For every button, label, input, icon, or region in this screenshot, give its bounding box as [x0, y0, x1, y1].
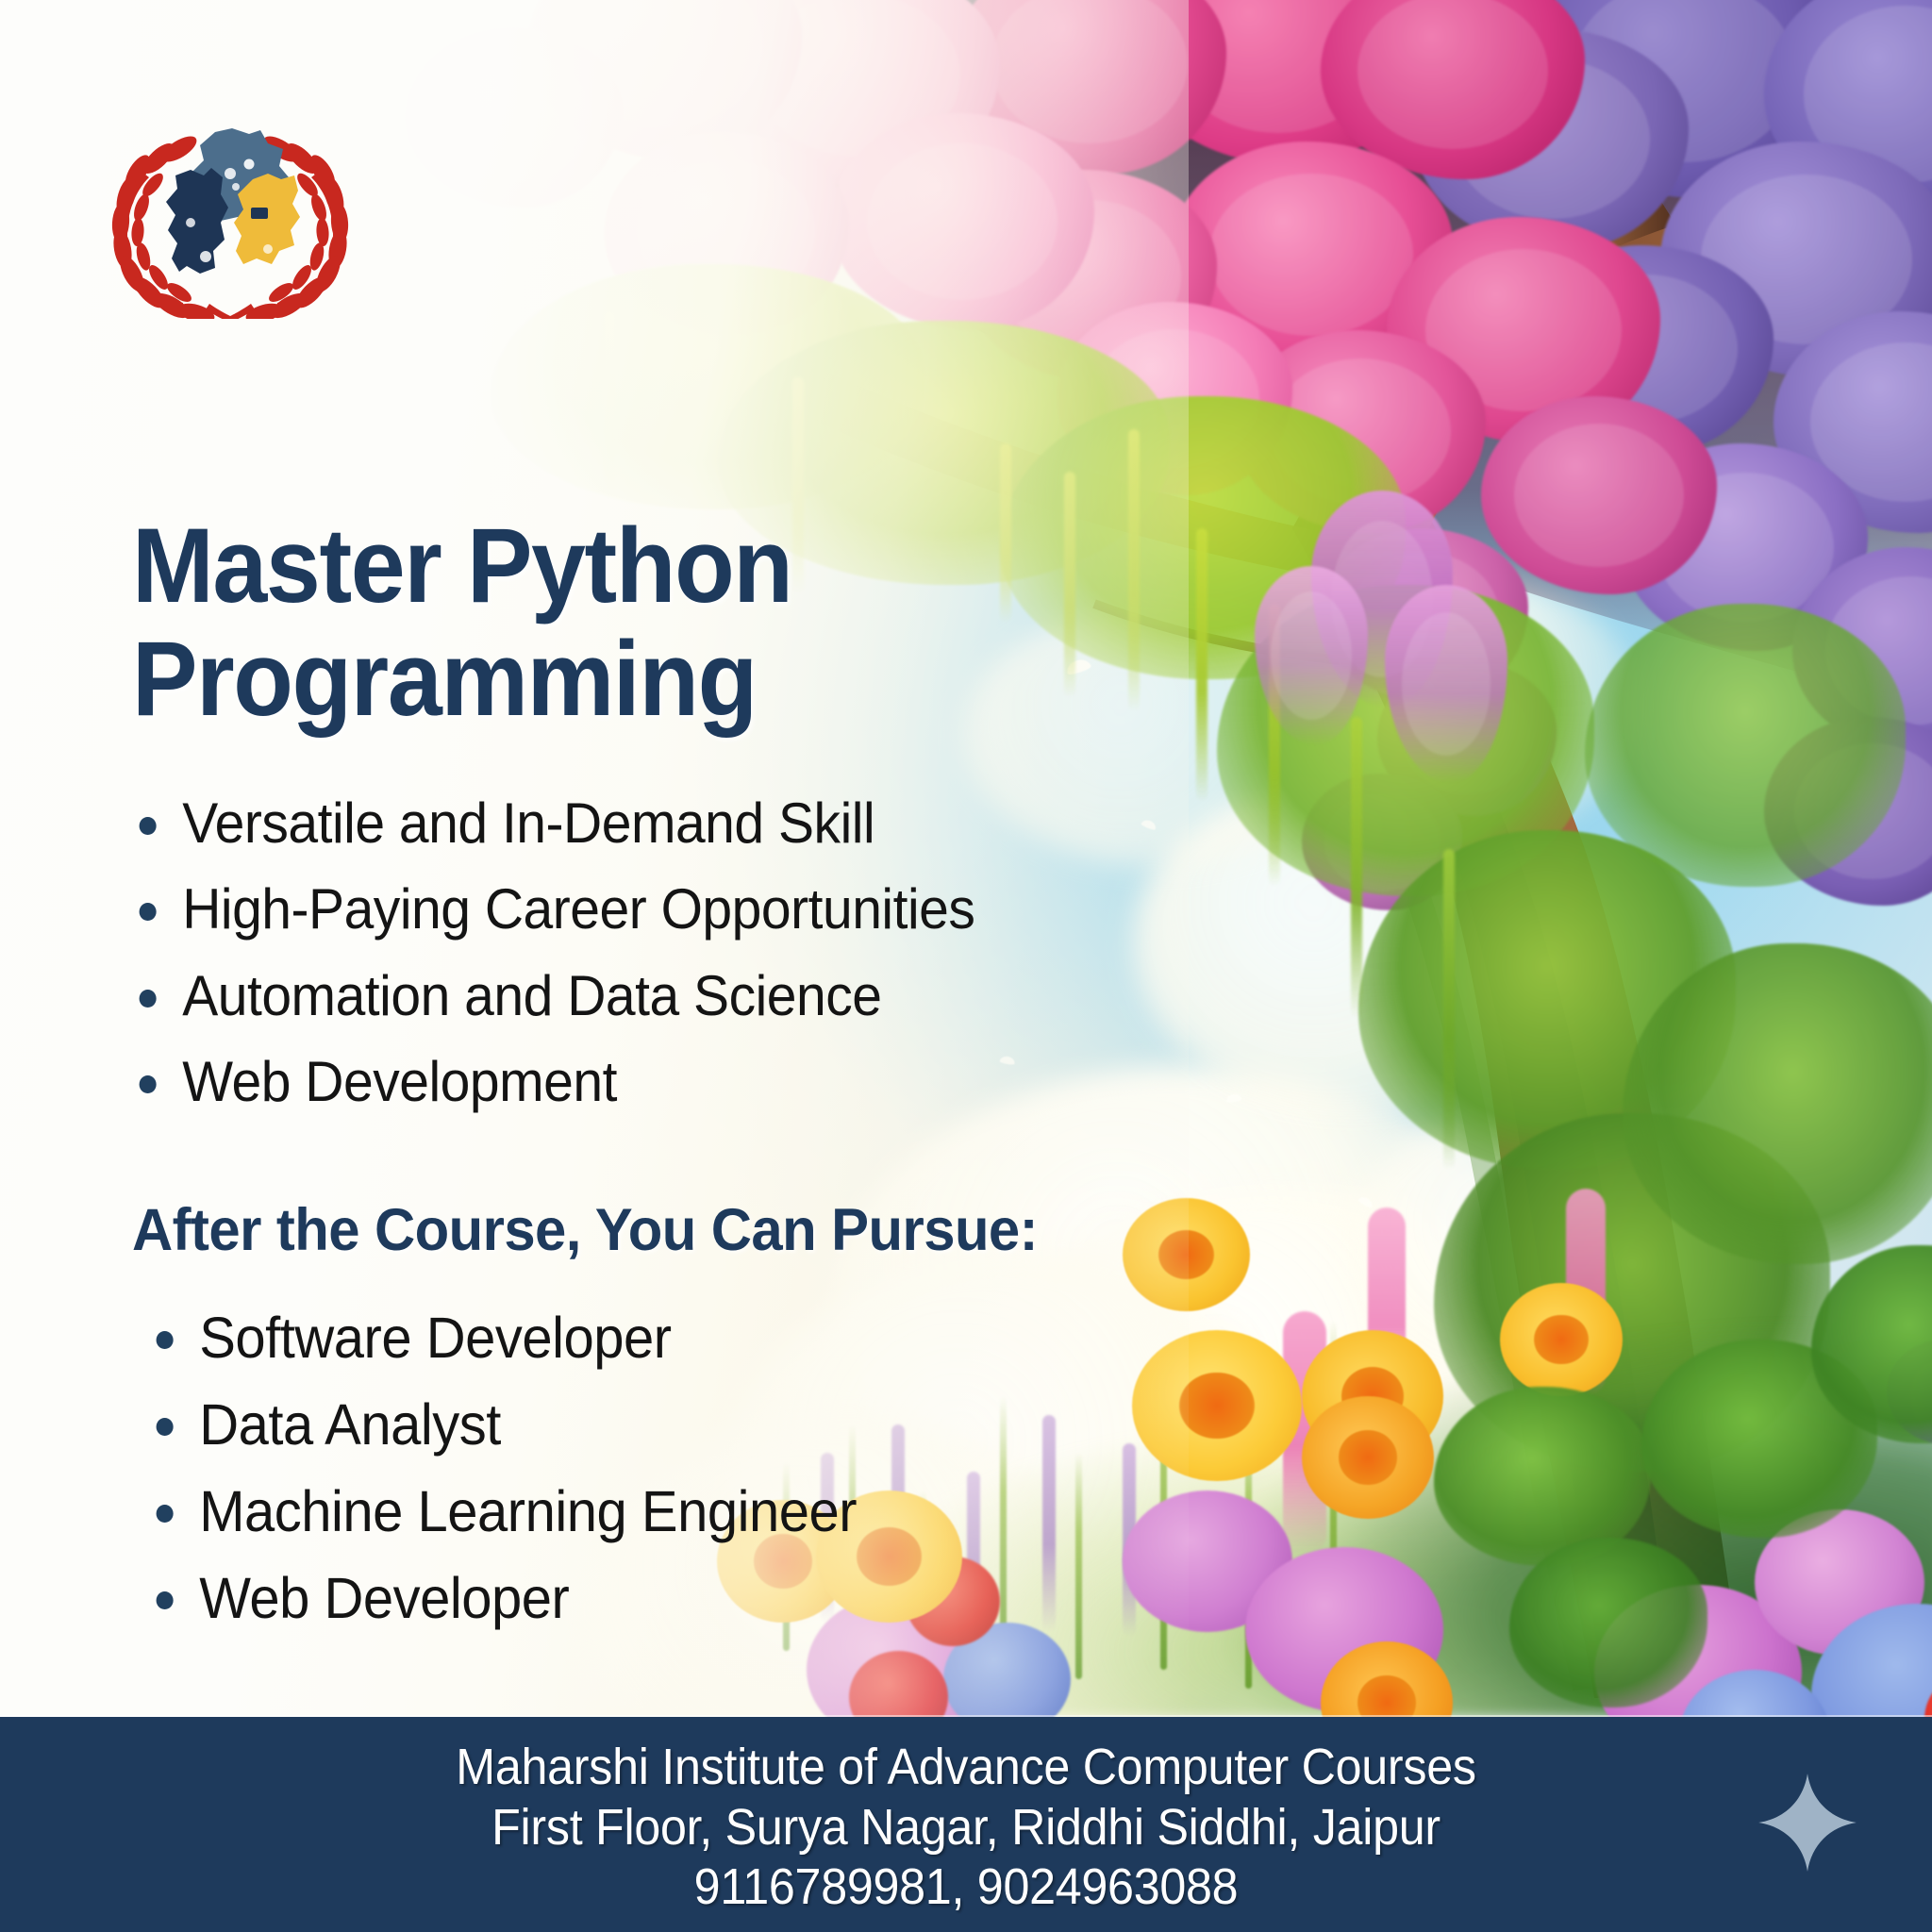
feature-label: Web Development [182, 1050, 617, 1113]
blossom-cluster [830, 113, 1094, 330]
hanging-strand [1269, 604, 1280, 887]
feature-label: Versatile and In-Demand Skill [182, 791, 874, 855]
cloud [1340, 1104, 1736, 1415]
blossom-cluster [1321, 528, 1528, 703]
section-heading: After the Course, You Can Pursue: [132, 1198, 1127, 1263]
pink-spire [1283, 1311, 1326, 1557]
feature-list: Versatile and In-Demand Skill High-Payin… [132, 791, 1179, 1115]
contact-footer: Maharshi Institute of Advance Computer C… [0, 1717, 1932, 1932]
list-item: Versatile and In-Demand Skill [132, 791, 1127, 857]
bullet-dot-icon [157, 1505, 174, 1523]
floating-petal [1113, 458, 1129, 474]
hanging-strand [1443, 849, 1455, 1170]
role-label: Machine Learning Engineer [199, 1479, 857, 1543]
institute-name: Maharshi Institute of Advance Computer C… [68, 1738, 1865, 1798]
blossom-cluster [717, 0, 1000, 189]
poster-canvas: Master Python Programming Versatile and … [0, 0, 1932, 1932]
bullet-dot-icon [140, 1075, 157, 1093]
headline-line-1: Master Python [132, 507, 792, 625]
wisteria-clump [1255, 566, 1368, 745]
list-item: Machine Learning Engineer [149, 1478, 1127, 1545]
blossom-cluster [1377, 660, 1557, 816]
blossom-cluster [1387, 217, 1660, 443]
bullet-dot-icon [157, 1591, 174, 1609]
institute-phones: 9116789981, 9024963088 [68, 1857, 1865, 1918]
floating-petal [1546, 978, 1563, 991]
role-list: Software Developer Data Analyst Machine … [132, 1305, 1179, 1631]
blossom-cluster [953, 0, 1226, 175]
purple-bloom [1887, 1340, 1932, 1443]
foliage-mass [1434, 1113, 1830, 1472]
institute-address: First Floor, Surya Nagar, Riddhi Siddhi,… [68, 1798, 1865, 1858]
floating-petal [1226, 1093, 1242, 1103]
blossom-cluster [1660, 142, 1932, 377]
blossom-cluster [604, 132, 849, 335]
role-label: Software Developer [199, 1306, 671, 1370]
leaf-cluster [1811, 1245, 1932, 1443]
hanging-strand [1351, 717, 1362, 1019]
blossom-cluster [1302, 774, 1462, 910]
footer-text-block: Maharshi Institute of Advance Computer C… [0, 1738, 1932, 1918]
orange-daisy [1302, 1396, 1434, 1519]
hanging-strand [604, 311, 615, 500]
floating-petal [1310, 795, 1337, 821]
grass-blade [1245, 1415, 1252, 1689]
bullet-dot-icon [157, 1418, 174, 1436]
blossom-cluster [1132, 0, 1424, 165]
blossom-cluster [1321, 0, 1585, 179]
page-title: Master Python Programming [132, 509, 1106, 736]
feature-label: Automation and Data Science [182, 964, 881, 1027]
feature-label: High-Paying Career Opportunities [182, 877, 974, 941]
blossom-cluster [1236, 330, 1486, 533]
blossom-cluster [1764, 717, 1932, 906]
foliage-mass [1585, 604, 1906, 887]
blossom-cluster [1764, 0, 1932, 217]
bullet-dot-icon [140, 990, 157, 1008]
blossom-cluster [1415, 28, 1689, 250]
python-emblem-icon [162, 128, 302, 281]
wisteria-clump [1311, 491, 1453, 708]
poster-copy: Master Python Programming Versatile and … [132, 509, 1179, 1651]
headline-line-2: Programming [132, 620, 757, 738]
pink-spire [1566, 1189, 1606, 1396]
floating-petal [1357, 1195, 1374, 1209]
cloud [1132, 774, 1585, 1113]
blossom-cluster [1792, 547, 1932, 755]
sparkle-icon [1757, 1772, 1858, 1874]
blossom-cluster [528, 0, 802, 160]
orange-daisy [1302, 1330, 1443, 1462]
wisteria-clump [1385, 585, 1507, 783]
blossom-cluster [406, 28, 623, 208]
yellow-daisy [1500, 1283, 1623, 1396]
role-label: Data Analyst [199, 1392, 501, 1457]
blossom-cluster [1528, 0, 1840, 198]
pink-hydrangea [1755, 1509, 1924, 1656]
foliage-mass [1217, 585, 1594, 896]
pink-spire [1368, 1207, 1406, 1424]
blossom-cluster [1170, 142, 1453, 368]
blossom-cluster [1519, 245, 1774, 453]
blossom-cluster [1057, 302, 1292, 495]
list-item: Web Developer [149, 1565, 1127, 1632]
list-item: Data Analyst [149, 1391, 1127, 1458]
bullet-dot-icon [140, 903, 157, 921]
pink-hydrangea [1245, 1547, 1443, 1712]
blossom-cluster [962, 170, 1217, 382]
leaf-cluster [1641, 1340, 1877, 1538]
list-item: High-Paying Career Opportunities [132, 876, 1127, 942]
institute-logo [104, 102, 357, 319]
foliage-mass [1358, 830, 1736, 1170]
hanging-strand [1196, 528, 1207, 802]
bullet-dot-icon [157, 1331, 174, 1349]
bullet-dot-icon [140, 817, 157, 835]
blossom-cluster [1623, 443, 1868, 651]
role-label: Web Developer [199, 1566, 569, 1630]
leaf-cluster [1509, 1538, 1707, 1707]
list-item: Automation and Data Science [132, 963, 1127, 1029]
cloud [1245, 566, 1641, 849]
list-item: Software Developer [149, 1305, 1127, 1372]
grass-blade [1330, 1321, 1337, 1679]
foliage-mass [491, 264, 924, 509]
blossom-cluster [1481, 396, 1717, 594]
blossom-cluster [1774, 311, 1932, 533]
leaf-cluster [1434, 1387, 1651, 1566]
foliage-mass [1623, 943, 1932, 1264]
list-item: Web Development [132, 1049, 1127, 1115]
